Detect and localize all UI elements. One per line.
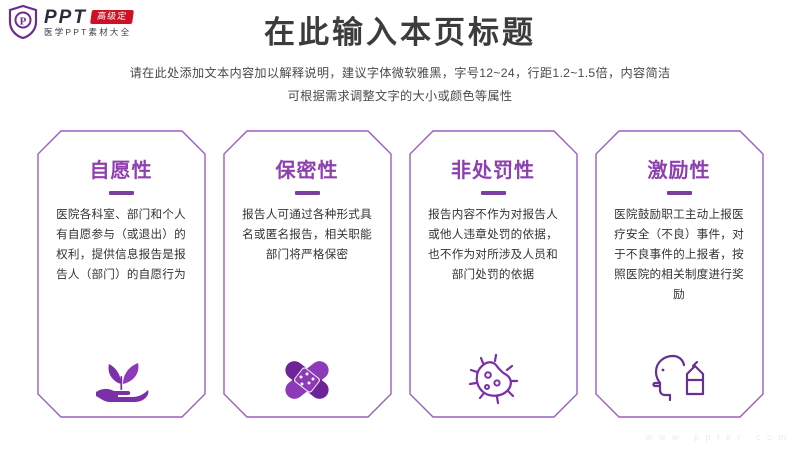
site-watermark: w w w . p p t e r . c o m: [646, 432, 788, 442]
bacteria-germ-icon: [409, 344, 578, 406]
crossed-bandages-icon: [223, 344, 392, 406]
page-title: 在此输入本页标题: [0, 14, 800, 51]
card-body-text: 报告内容不作为对报告人或他人违章处罚的依据，也不作为对所涉及人员和部门处罚的依据: [423, 205, 564, 285]
content-card[interactable]: 激励性 医院鼓励职工主动上报医疗安全（不良）事件，对于不良事件的上报者，按照医院…: [595, 130, 764, 418]
content-card[interactable]: 保密性 报告人可通过各种形式具名或匿名报告，相关职能部门将严格保密: [223, 130, 392, 418]
content-card[interactable]: 非处罚性 报告内容不作为对报告人或他人违章处罚的依据，也不作为对所涉及人员和部门…: [409, 130, 578, 418]
card-body-text: 医院鼓励职工主动上报医疗安全（不良）事件，对于不良事件的上报者，按照医院的相关制…: [609, 205, 750, 305]
hand-holding-plant-icon: [37, 344, 206, 406]
card-title-underline: [109, 191, 134, 195]
card-body-text: 报告人可通过各种形式具名或匿名报告，相关职能部门将严格保密: [237, 205, 378, 265]
card-title: 激励性: [648, 160, 711, 182]
card-title-underline: [481, 191, 506, 195]
subtitle-line-2: 可根据需求调整文字的大小或颜色等属性: [0, 85, 800, 108]
card-title: 自愿性: [90, 160, 153, 182]
card-body-text: 医院各科室、部门和个人有自愿参与（或退出）的权利，提供信息报告是报告人（部门）的…: [51, 205, 192, 285]
card-title: 非处罚性: [451, 160, 535, 182]
content-card[interactable]: 自愿性 医院各科室、部门和个人有自愿参与（或退出）的权利，提供信息报告是报告人（…: [37, 130, 206, 418]
card-title-underline: [667, 191, 692, 195]
card-title: 保密性: [276, 160, 339, 182]
page-subtitle: 请在此处添加文本内容加以解释说明，建议字体微软雅黑，字号12~24，行距1.2~…: [0, 62, 800, 107]
card-title-underline: [295, 191, 320, 195]
card-list: 自愿性 医院各科室、部门和个人有自愿参与（或退出）的权利，提供信息报告是报告人（…: [0, 130, 800, 418]
face-inhaler-icon: [595, 344, 764, 406]
subtitle-line-1: 请在此处添加文本内容加以解释说明，建议字体微软雅黑，字号12~24，行距1.2~…: [0, 62, 800, 85]
